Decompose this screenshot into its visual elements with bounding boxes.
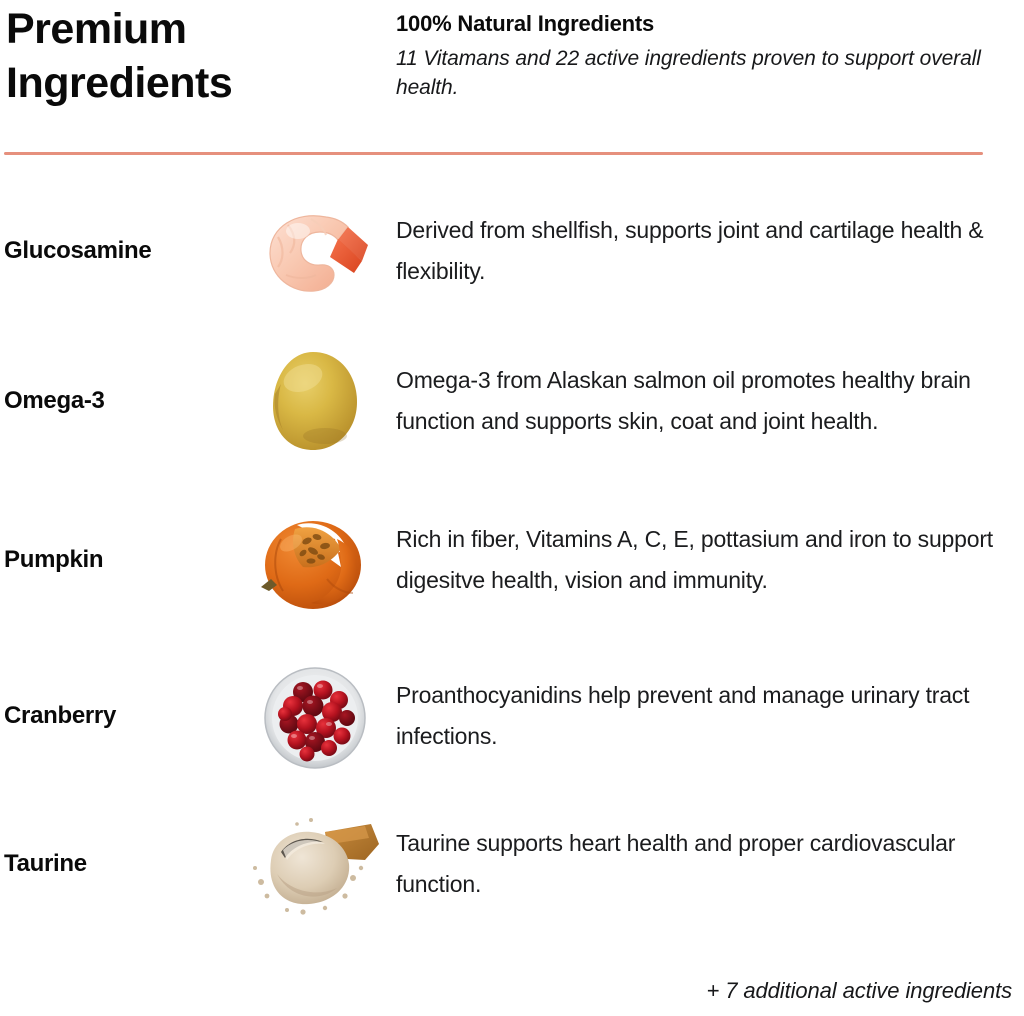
pumpkin-icon — [240, 505, 390, 615]
ingredient-name: Taurine — [0, 850, 240, 878]
ingredient-description: Proanthocyanidins help prevent and manag… — [390, 675, 1024, 757]
ingredient-description: Omega-3 from Alaskan salmon oil promotes… — [390, 360, 1024, 442]
ingredient-name: Glucosamine — [0, 237, 240, 265]
ingredient-name: Omega-3 — [0, 387, 240, 415]
ingredient-list: Glucosamine — [0, 178, 1024, 936]
taurine-powder-scoop-icon — [240, 808, 390, 920]
header-right-block: 100% Natural Ingredients 11 Vitamans and… — [396, 10, 996, 103]
ingredient-row: Omega-3 Omega-3 from Alaskan salmon oil … — [0, 323, 1024, 478]
ingredient-row: Glucosamine — [0, 178, 1024, 323]
additional-ingredients-note: + 7 additional active ingredients — [0, 978, 1012, 1004]
ingredient-description: Rich in fiber, Vitamins A, C, E, pottasi… — [390, 519, 1024, 601]
cranberry-bowl-icon — [240, 660, 390, 772]
page-title: Premium Ingredients — [6, 2, 366, 110]
header-divider — [4, 152, 983, 155]
ingredient-name: Cranberry — [0, 702, 240, 730]
header: Premium Ingredients 100% Natural Ingredi… — [0, 0, 1024, 150]
ingredient-row: Taurine — [0, 791, 1024, 936]
ingredient-row: Cranberry — [0, 641, 1024, 791]
ingredient-row: Pumpkin — [0, 478, 1024, 641]
shrimp-icon — [240, 201, 390, 301]
header-subtitle: 100% Natural Ingredients — [396, 10, 996, 39]
ingredient-description: Derived from shellfish, supports joint a… — [390, 210, 1024, 292]
ingredient-description: Taurine supports heart health and proper… — [390, 823, 1024, 905]
ingredient-name: Pumpkin — [0, 546, 240, 574]
fish-oil-softgel-icon — [240, 344, 390, 458]
header-note: 11 Vitamans and 22 active ingredients pr… — [396, 44, 996, 104]
